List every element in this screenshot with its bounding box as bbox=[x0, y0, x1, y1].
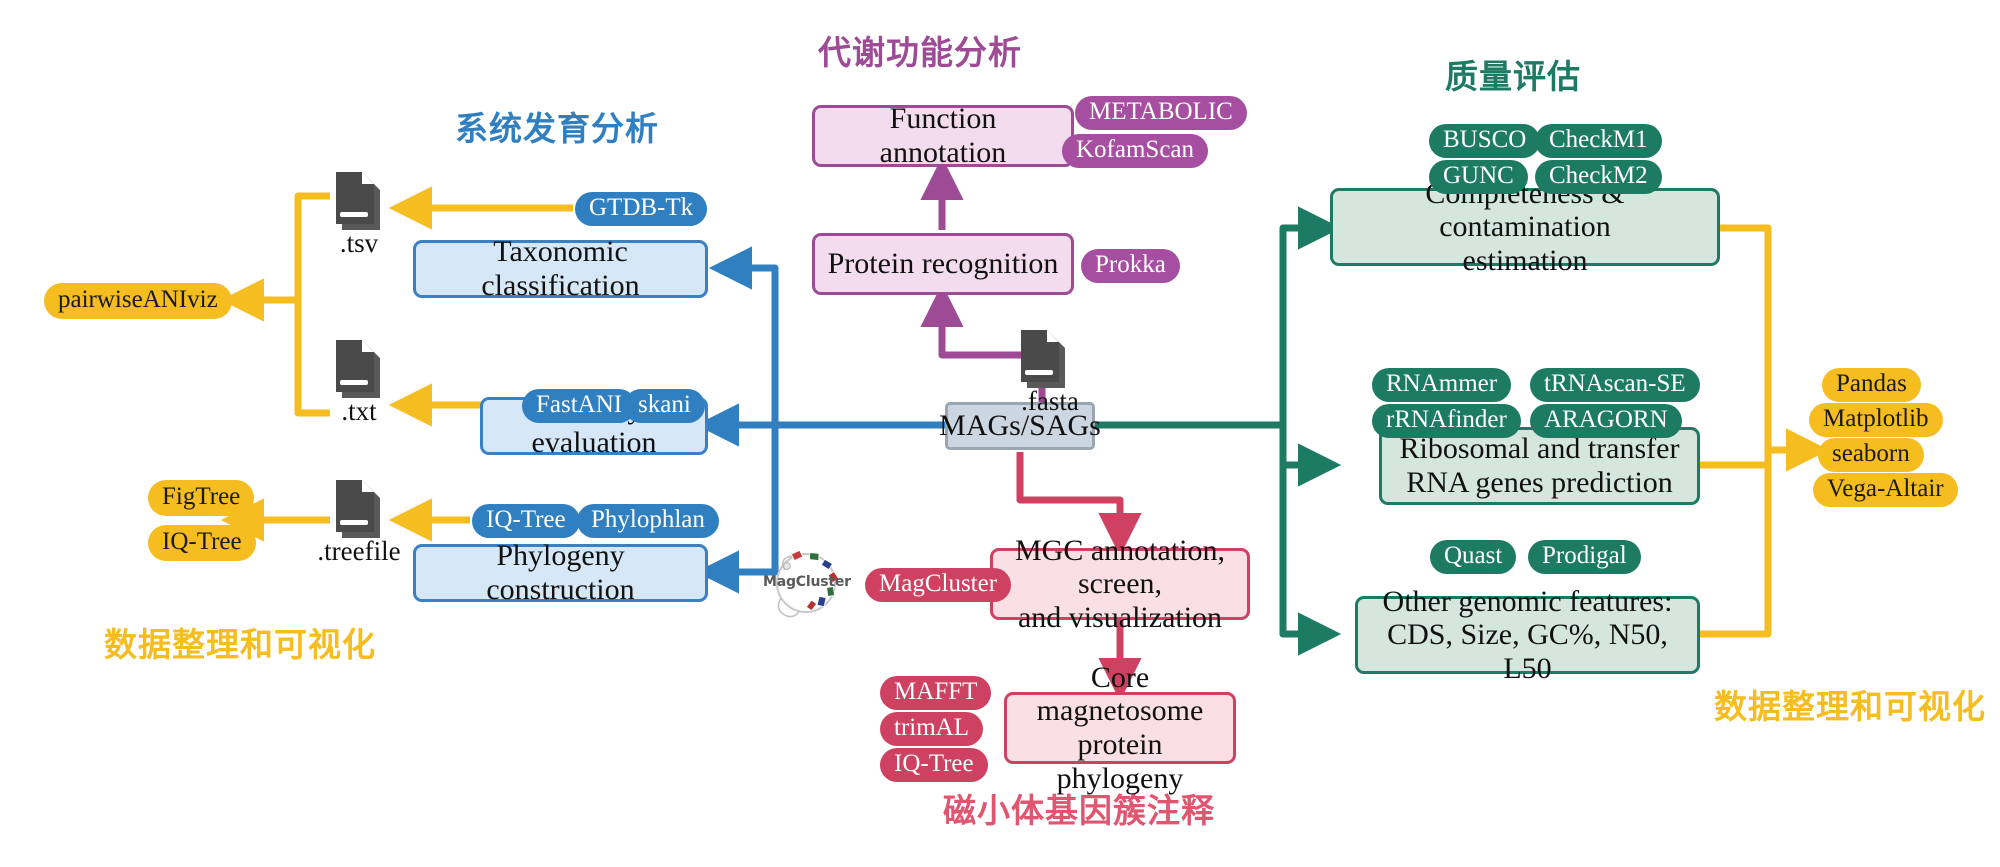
tool-pill-kofamscan[interactable]: KofamScan bbox=[1062, 134, 1208, 168]
box-core-line-1: Core magnetosome bbox=[1017, 661, 1223, 728]
wire-mags-to-mgc bbox=[1020, 452, 1120, 545]
heading-phylogeny: 系统发育分析 bbox=[455, 102, 659, 150]
tool-pill-fastani[interactable]: FastANI bbox=[522, 389, 636, 423]
heading-visualization-left: 数据整理和可视化 bbox=[104, 618, 376, 666]
tool-pill-phylophlan[interactable]: Phylophlan bbox=[577, 504, 719, 538]
box-mgc-line-2: and visualization bbox=[1018, 601, 1222, 635]
box-completeness-contamination[interactable]: Completeness & contamination estimation bbox=[1330, 188, 1720, 266]
tool-pill-figtree[interactable]: FigTree bbox=[148, 480, 254, 516]
wire-completeness-to-viz bbox=[1720, 228, 1768, 450]
tool-pill-pairwiseaniviz[interactable]: pairwiseANIviz bbox=[44, 283, 232, 319]
tool-pill-matplotlib[interactable]: Matplotlib bbox=[1809, 403, 1943, 437]
heading-quality: 质量评估 bbox=[1445, 50, 1581, 98]
treefile-file-label: .treefile bbox=[300, 536, 418, 567]
tool-pill-quast[interactable]: Quast bbox=[1430, 540, 1516, 574]
tool-pill-pandas[interactable]: Pandas bbox=[1822, 368, 1921, 402]
box-mgc-annotation[interactable]: MGC annotation, screen, and visualizatio… bbox=[990, 548, 1250, 620]
fasta-file-label: .fasta bbox=[1015, 386, 1085, 417]
wire-to-rna-prediction bbox=[1283, 425, 1330, 465]
tool-pill-checkm1[interactable]: CheckM1 bbox=[1535, 124, 1662, 158]
treefile-file-icon bbox=[330, 478, 388, 544]
tool-pill-prokka[interactable]: Prokka bbox=[1081, 249, 1180, 283]
box-core-magnetosome-phylogeny[interactable]: Core magnetosome protein phylogeny bbox=[1004, 692, 1236, 764]
tool-pill-metabolic[interactable]: METABOLIC bbox=[1075, 96, 1247, 130]
tool-pill-prodigal[interactable]: Prodigal bbox=[1528, 540, 1641, 574]
tool-pill-mafft[interactable]: MAFFT bbox=[880, 676, 991, 710]
txt-file-label: .txt bbox=[324, 396, 394, 427]
tsv-file-label: .tsv bbox=[324, 228, 394, 259]
tool-pill-skani[interactable]: skani bbox=[624, 389, 705, 423]
tool-pill-iqtree-phylo[interactable]: IQ-Tree bbox=[472, 504, 580, 538]
magcluster-logo-icon: MagCluster bbox=[763, 540, 849, 626]
tool-pill-magcluster[interactable]: MagCluster bbox=[865, 568, 1011, 602]
tool-pill-iqtree-viz[interactable]: IQ-Tree bbox=[148, 525, 256, 561]
wire-to-other-features bbox=[1283, 425, 1330, 634]
box-other-line-1: Other genomic features: bbox=[1383, 585, 1673, 619]
tool-pill-aragorn[interactable]: ARAGORN bbox=[1530, 404, 1682, 438]
box-completeness-line-2: estimation bbox=[1463, 244, 1588, 278]
tool-pill-vega-altair[interactable]: Vega-Altair bbox=[1813, 473, 1958, 507]
box-phylogeny-construction[interactable]: Phylogeny construction bbox=[413, 544, 708, 602]
workflow-diagram: 代谢功能分析 系统发育分析 质量评估 数据整理和可视化 数据整理和可视化 磁小体… bbox=[0, 0, 2000, 867]
box-protein-recognition[interactable]: Protein recognition bbox=[812, 233, 1074, 295]
tsv-file-icon bbox=[330, 170, 388, 236]
tool-pill-seaborn[interactable]: seaborn bbox=[1818, 438, 1924, 472]
heading-visualization-right: 数据整理和可视化 bbox=[1714, 680, 1986, 728]
magcluster-wordmark: MagCluster bbox=[763, 574, 849, 590]
heading-metabolic: 代谢功能分析 bbox=[818, 26, 1022, 74]
box-function-annotation[interactable]: Function annotation bbox=[812, 105, 1074, 167]
tool-pill-iqtree-mgc[interactable]: IQ-Tree bbox=[880, 748, 988, 782]
tool-pill-trimal[interactable]: trimAL bbox=[880, 712, 983, 746]
tool-pill-trnascan-se[interactable]: tRNAscan-SE bbox=[1530, 368, 1700, 402]
wire-to-completeness bbox=[1283, 228, 1330, 425]
box-rna-genes-prediction[interactable]: Ribosomal and transfer RNA genes predict… bbox=[1379, 427, 1700, 505]
box-rna-line-2: RNA genes prediction bbox=[1406, 466, 1673, 500]
box-other-line-2: CDS, Size, GC%, N50, L50 bbox=[1368, 618, 1687, 685]
box-taxonomic-classification[interactable]: Taxonomic classification bbox=[413, 240, 708, 298]
wire-other-to-viz bbox=[1700, 450, 1768, 634]
box-core-line-2: protein phylogeny bbox=[1017, 728, 1223, 795]
txt-file-icon bbox=[330, 338, 388, 404]
fasta-file-icon bbox=[1015, 328, 1073, 394]
tool-pill-gtdbtk[interactable]: GTDB-Tk bbox=[575, 192, 707, 226]
wire-to-taxonomic bbox=[720, 268, 775, 425]
tool-pill-gunc[interactable]: GUNC bbox=[1429, 160, 1528, 194]
box-other-genomic-features[interactable]: Other genomic features: CDS, Size, GC%, … bbox=[1355, 596, 1700, 674]
box-mgc-line-1: MGC annotation, screen, bbox=[1003, 534, 1237, 601]
tool-pill-checkm2[interactable]: CheckM2 bbox=[1535, 160, 1662, 194]
tool-pill-busco[interactable]: BUSCO bbox=[1429, 124, 1540, 158]
tool-pill-rnammer[interactable]: RNAmmer bbox=[1372, 368, 1511, 402]
tool-pill-rrnafinder[interactable]: rRNAfinder bbox=[1372, 404, 1521, 438]
